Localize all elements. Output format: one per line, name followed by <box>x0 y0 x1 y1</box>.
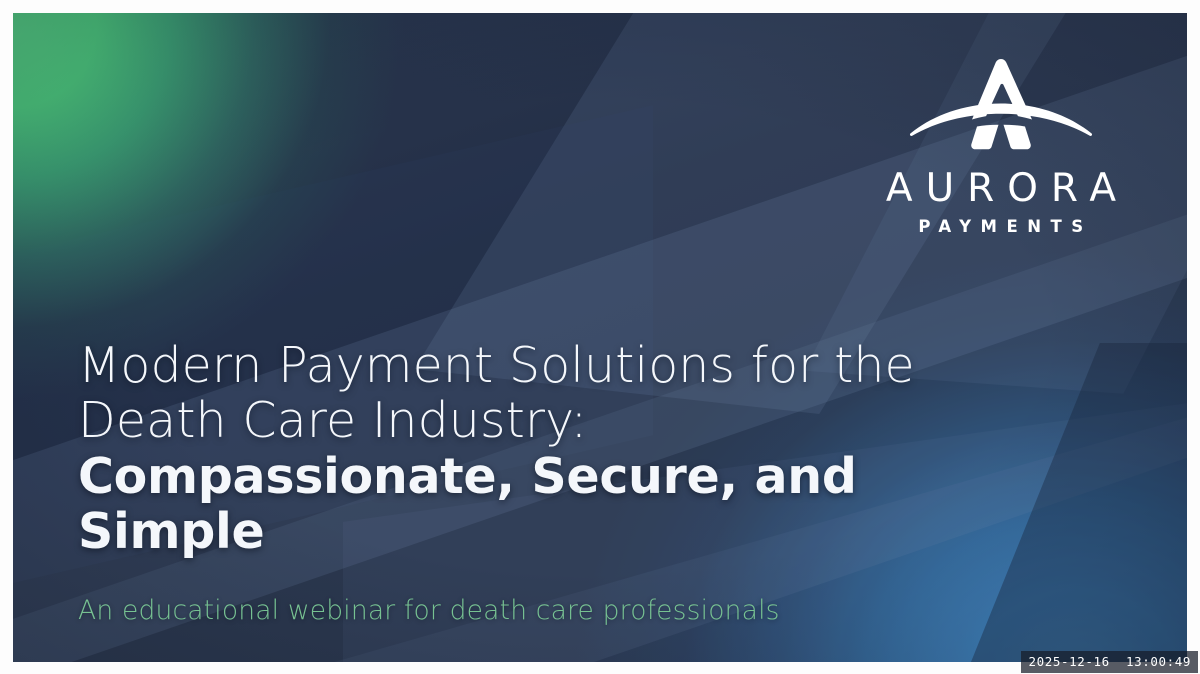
aurora-arc-a-icon <box>908 55 1094 165</box>
logo-wordmark: AURORA <box>873 169 1129 208</box>
recording-timestamp: 2025-12-16 13:00:49 <box>1021 651 1198 673</box>
aurora-payments-logo: AURORA PAYMENTS <box>887 55 1115 236</box>
screenshot-canvas: AURORA PAYMENTS Modern Payment Solutions… <box>0 0 1200 674</box>
logo-tagline: PAYMENTS <box>909 219 1092 236</box>
title-line-3-emphasis: Compassionate, Secure, and Simple <box>78 449 1038 560</box>
slide-title: Modern Payment Solutions for the Death C… <box>78 338 1038 559</box>
title-line-1: Modern Payment Solutions for the <box>78 338 1038 393</box>
title-line-2: Death Care Industry: <box>78 393 1038 448</box>
slide-text-block: Modern Payment Solutions for the Death C… <box>78 338 1038 662</box>
presentation-slide: AURORA PAYMENTS Modern Payment Solutions… <box>13 13 1187 662</box>
slide-subtitle: An educational webinar for death care pr… <box>78 595 1038 626</box>
